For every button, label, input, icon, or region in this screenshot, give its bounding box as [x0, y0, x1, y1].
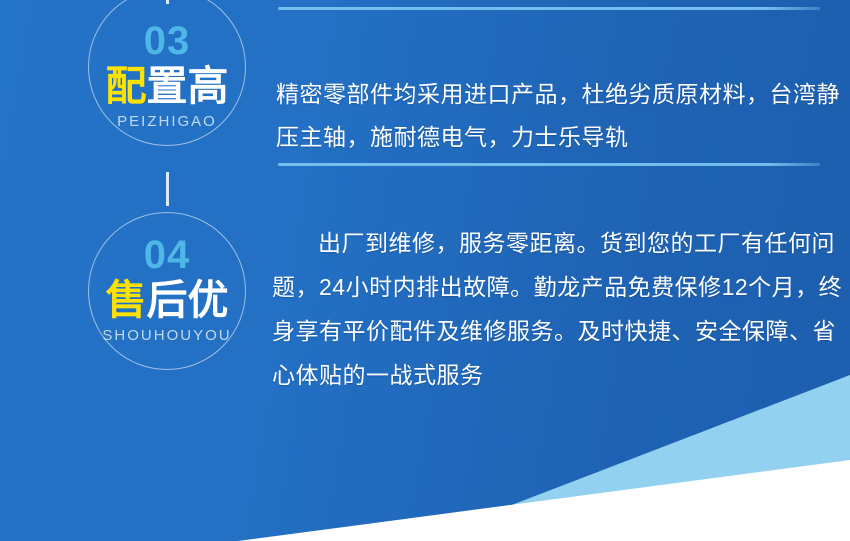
- divider-middle: [278, 163, 820, 166]
- divider-top: [278, 7, 820, 10]
- promo-banner: 03 配置高 PEIZHIGAO 04 售后优 SHOUHOUYOU 精密零部件…: [0, 0, 850, 541]
- feature-body-04: 出厂到维修，服务零距离。货到您的工厂有任何问题，24小时内排出故障。勤龙产品免费…: [272, 221, 844, 397]
- circle-connector-middle: [166, 172, 169, 206]
- feature-circle-04[interactable]: 04 售后优 SHOUHOUYOU: [88, 212, 246, 370]
- feature-circle-03[interactable]: 03 配置高 PEIZHIGAO: [88, 0, 246, 146]
- feature-title: 售后优: [106, 279, 229, 322]
- feature-title-rest: 后优: [147, 277, 229, 323]
- feature-title-highlight: 售: [106, 277, 147, 323]
- feature-circle-column: 03 配置高 PEIZHIGAO 04 售后优 SHOUHOUYOU: [0, 0, 266, 541]
- feature-body-03: 精密零部件均采用进口产品，杜绝劣质原材料，台湾静压主轴，施耐德电气，力士乐导轨: [276, 73, 844, 159]
- feature-pinyin: PEIZHIGAO: [117, 113, 217, 130]
- feature-title-rest: 置高: [147, 63, 229, 109]
- feature-number: 04: [144, 235, 191, 275]
- feature-text-column: 精密零部件均采用进口产品，杜绝劣质原材料，台湾静压主轴，施耐德电气，力士乐导轨 …: [268, 0, 850, 541]
- feature-pinyin: SHOUHOUYOU: [102, 327, 231, 344]
- feature-title-highlight: 配: [106, 63, 147, 109]
- feature-title: 配置高: [106, 65, 229, 108]
- feature-number: 03: [144, 21, 191, 61]
